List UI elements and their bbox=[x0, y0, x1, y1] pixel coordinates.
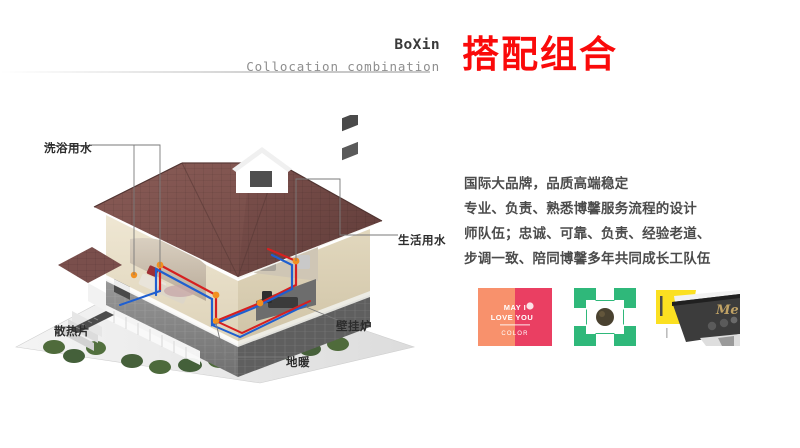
description-block: 国际大品牌，品质高端稳定 专业、负责、熟悉博馨服务流程的设计 师队伍；忠诚、可靠… bbox=[464, 172, 774, 272]
thumbnail-card-row: MAY I LOVE YOU COLOR bbox=[478, 288, 778, 346]
thumbnail-card-green-lens[interactable] bbox=[574, 288, 636, 346]
brand-name: BoXin bbox=[140, 36, 440, 54]
label-domestic-water: 生活用水 bbox=[398, 232, 446, 248]
card-caption: COLOR bbox=[501, 331, 528, 337]
label-floor-heating: 地暖 bbox=[286, 354, 310, 370]
house-illustration-svg bbox=[10, 115, 450, 390]
label-wall-boiler: 壁挂炉 bbox=[336, 318, 372, 334]
thumbnail-card-dark-device[interactable]: Me bbox=[656, 288, 740, 346]
card-title-line2: LOVE YOU bbox=[491, 313, 534, 322]
header-subtitle: Collocation combination bbox=[140, 57, 440, 77]
thumbnail-card-may-i-love-you[interactable]: MAY I LOVE YOU COLOR bbox=[478, 288, 552, 346]
description-line-4: 步调一致、陪同博馨多年共同成长工队伍 bbox=[464, 247, 774, 272]
page-header: BoXin Collocation combination 搭配组合 bbox=[0, 0, 800, 100]
house-diagram bbox=[10, 115, 450, 390]
lens-icon bbox=[596, 308, 614, 326]
label-radiator: 散热片 bbox=[54, 323, 90, 339]
description-line-1: 国际大品牌，品质高端稳定 bbox=[464, 172, 774, 197]
card-title-line1: MAY I bbox=[504, 303, 527, 312]
header-english-block: BoXin Collocation combination bbox=[140, 36, 440, 77]
page-root: BoXin Collocation combination 搭配组合 bbox=[0, 0, 800, 448]
description-line-2: 专业、负责、熟悉博馨服务流程的设计 bbox=[464, 197, 774, 222]
page-title: 搭配组合 bbox=[462, 33, 618, 77]
description-line-3: 师队伍；忠诚、可靠、负责、经验老道、 bbox=[464, 222, 774, 247]
roof-dormer bbox=[232, 147, 292, 193]
svg-text:Me: Me bbox=[715, 303, 739, 318]
label-bathing-water: 洗浴用水 bbox=[44, 140, 92, 156]
